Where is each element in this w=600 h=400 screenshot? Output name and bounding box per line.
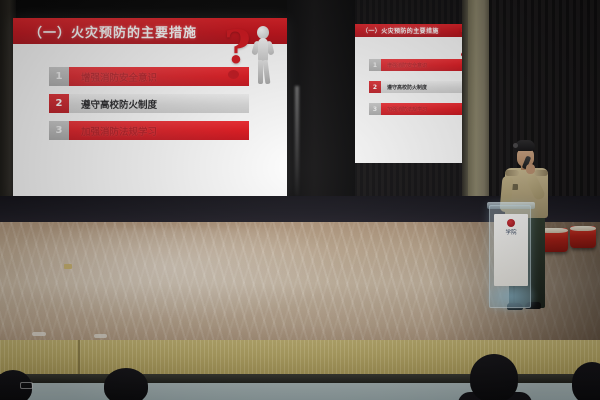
question-mark-dot-icon bbox=[228, 70, 239, 79]
human-figure-icon bbox=[253, 26, 275, 88]
auditorium-scene: （一）火灾预防的主要措施 1 增强消防安全意识 2 遵守高校防火制度 3 加强消… bbox=[0, 0, 600, 400]
main-slide-row-1-number: 1 bbox=[49, 67, 69, 86]
main-slide-row-2-text: 遵守高校防火制度 bbox=[69, 94, 249, 113]
main-slide-row-1-text: 增强消防安全意识 bbox=[69, 67, 249, 86]
main-slide-row-3-text: 加强消防法规学习 bbox=[69, 121, 249, 140]
side-slide-row-3-text: 加强消防法规学习 bbox=[381, 103, 465, 115]
side-slide-title: （一）火灾预防的主要措施 bbox=[355, 26, 439, 35]
floor-light-reflection bbox=[20, 228, 350, 324]
audience-head bbox=[470, 354, 518, 400]
main-slide-row-1: 1 增强消防安全意识 bbox=[49, 67, 249, 86]
main-slide-row-2: 2 遵守高校防火制度 bbox=[49, 94, 249, 113]
speaker-hand bbox=[526, 164, 535, 174]
backdrop-light-streak bbox=[295, 86, 299, 196]
main-slide-row-3: 3 加强消防法规学习 bbox=[49, 121, 249, 140]
main-slide-row-2-number: 2 bbox=[49, 94, 69, 113]
apron-seam bbox=[78, 340, 80, 374]
side-slide-row-1: 1 增强消防安全意识 bbox=[369, 59, 465, 71]
side-slide-row-1-number: 1 bbox=[369, 59, 381, 71]
audience-glasses bbox=[20, 382, 33, 389]
floor-marker bbox=[64, 264, 72, 269]
side-slide-row-3-number: 3 bbox=[369, 103, 381, 115]
podium-top-surface bbox=[487, 202, 535, 209]
question-mark-icon: ? bbox=[224, 24, 251, 70]
main-slide-row-3-number: 3 bbox=[49, 121, 69, 140]
side-slide-row-3: 3 加强消防法规学习 bbox=[369, 103, 465, 115]
side-slide-row-2-text: 遵守高校防火制度 bbox=[381, 81, 465, 93]
acrylic-podium: 学院 bbox=[489, 205, 531, 308]
red-drum bbox=[570, 226, 596, 248]
figure-body bbox=[258, 38, 268, 62]
side-slide-row-2: 2 遵守高校防火制度 bbox=[369, 81, 465, 93]
drum-head bbox=[570, 226, 596, 231]
floor-marker bbox=[32, 332, 46, 336]
stage-pillar bbox=[468, 0, 491, 228]
audience-head bbox=[104, 368, 148, 400]
main-projection-screen: （一）火灾预防的主要措施 1 增强消防安全意识 2 遵守高校防火制度 3 加强消… bbox=[13, 18, 287, 197]
figure-leg-right bbox=[263, 60, 271, 84]
main-slide-title: （一）火灾预防的主要措施 bbox=[13, 22, 197, 41]
beret-icon bbox=[515, 140, 535, 151]
side-slide-row-2-number: 2 bbox=[369, 81, 381, 93]
podium-placard-text: 学院 bbox=[506, 230, 517, 236]
side-slide-row-1-text: 增强消防安全意识 bbox=[381, 59, 465, 71]
beret-flash bbox=[513, 143, 518, 148]
main-slide: （一）火灾预防的主要措施 1 增强消防安全意识 2 遵守高校防火制度 3 加强消… bbox=[13, 18, 287, 197]
floor-marker bbox=[94, 334, 107, 338]
podium-placard: 学院 bbox=[494, 214, 528, 286]
institution-emblem-icon bbox=[507, 219, 515, 227]
